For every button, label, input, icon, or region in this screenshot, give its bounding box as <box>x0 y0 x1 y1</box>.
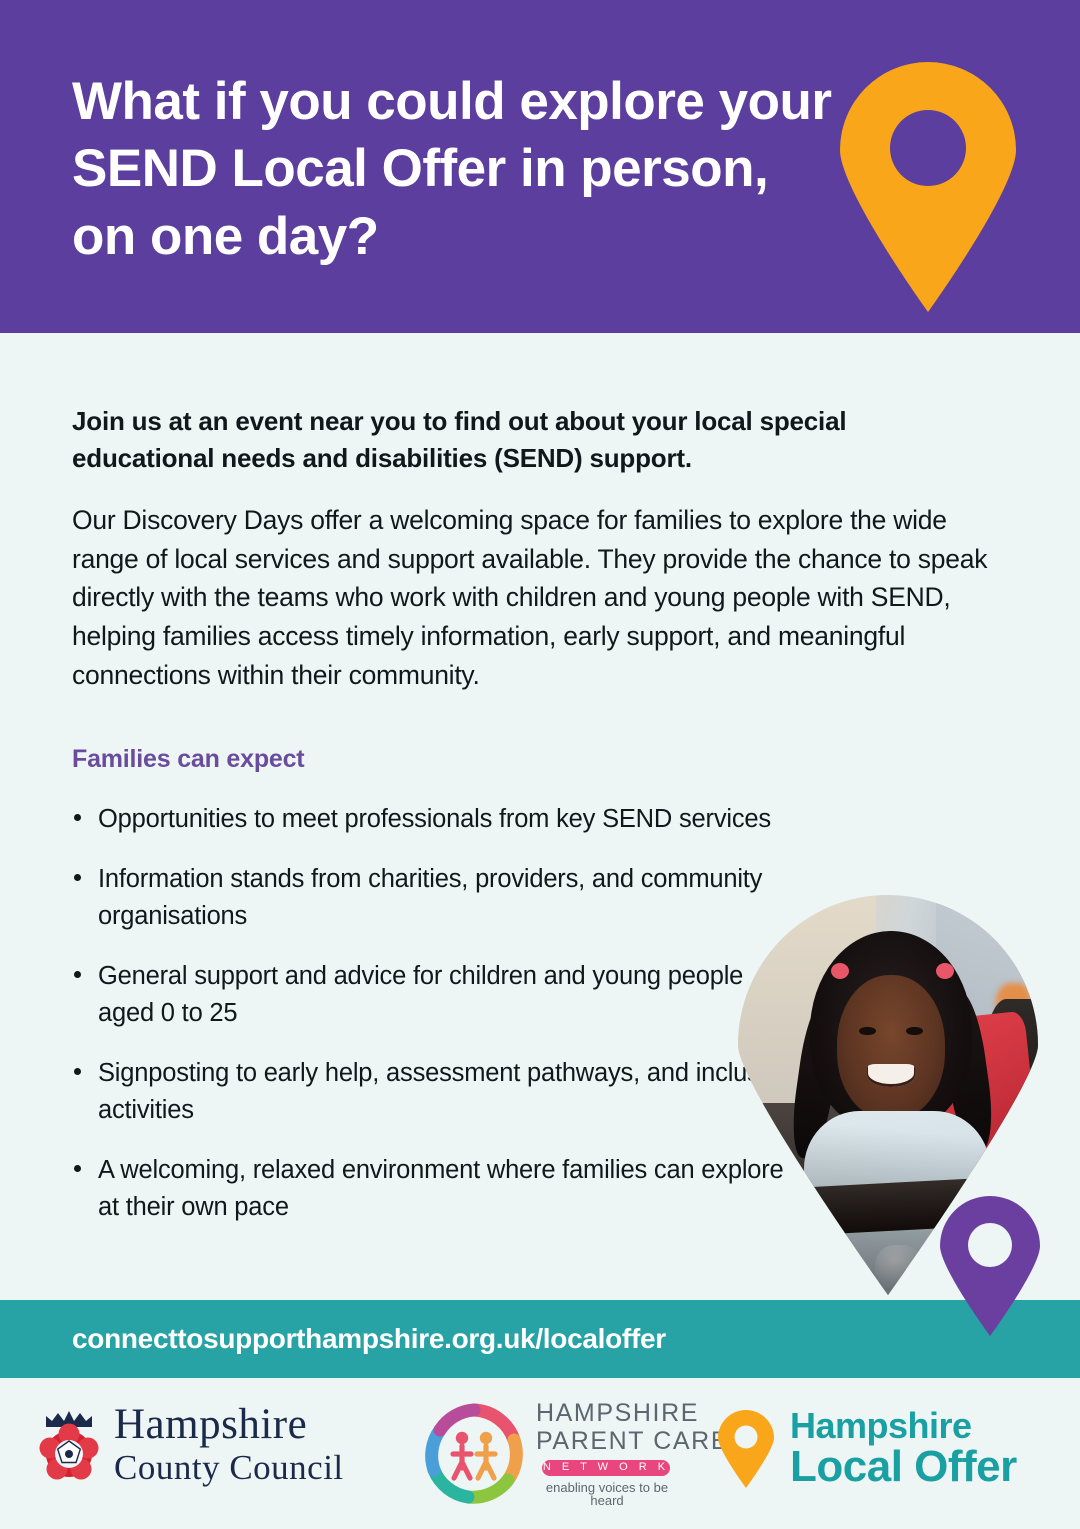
logo-line-1: Hampshire <box>114 1403 344 1446</box>
list-item-label: Signposting to early help, assessment pa… <box>98 1059 792 1123</box>
list-item-label: General support and advice for children … <box>98 962 743 1026</box>
logo-line-2: County Council <box>114 1450 344 1485</box>
page-title: What if you could explore your SEND Loca… <box>72 68 832 270</box>
map-pin-icon <box>840 62 1016 312</box>
list-item: Signposting to early help, assessment pa… <box>72 1055 792 1128</box>
list-item-label: Opportunities to meet professionals from… <box>98 805 771 833</box>
website-url[interactable]: connecttosupporthampshire.org.uk/localof… <box>72 1323 666 1355</box>
logo-text: Hampshire County Council <box>114 1403 344 1485</box>
list-item: Opportunities to meet professionals from… <box>72 801 792 837</box>
families-can-expect-heading: Families can expect <box>72 745 304 774</box>
bullet-dot-icon <box>74 814 81 821</box>
bullet-dot-icon <box>74 1165 81 1172</box>
logo-line-2: PARENT CARER <box>536 1429 749 1454</box>
list-item: General support and advice for children … <box>72 958 792 1031</box>
logo-network-badge: N E T W O R K <box>542 1460 670 1476</box>
footer-logos: Hampshire County Council <box>0 1378 1080 1529</box>
description-paragraph: Our Discovery Days offer a welcoming spa… <box>72 501 1002 694</box>
logo-line-1: Hampshire <box>790 1408 1017 1445</box>
logo-line-1: HAMPSHIRE <box>536 1401 749 1426</box>
logo-hampshire-local-offer: Hampshire Local Offer <box>718 1408 1017 1490</box>
logo-tagline: enabling voices to be heard <box>536 1481 678 1507</box>
bullet-dot-icon <box>74 1068 81 1075</box>
expectations-list: Opportunities to meet professionals from… <box>72 801 792 1249</box>
logo-text: Hampshire Local Offer <box>790 1408 1017 1490</box>
map-pin-icon <box>940 1196 1040 1336</box>
poster: What if you could explore your SEND Loca… <box>0 0 1080 1529</box>
lead-paragraph: Join us at an event near you to find out… <box>72 403 972 477</box>
header-banner: What if you could explore your SEND Loca… <box>0 0 1080 333</box>
tudor-rose-crown-icon <box>38 1405 100 1483</box>
bullet-dot-icon <box>74 874 81 881</box>
logo-line-2: Local Offer <box>790 1445 1017 1490</box>
logo-hampshire-county-council: Hampshire County Council <box>38 1403 344 1485</box>
map-pin-icon <box>718 1410 774 1488</box>
list-item-label: A welcoming, relaxed environment where f… <box>98 1156 784 1220</box>
list-item-label: Information stands from charities, provi… <box>98 865 762 929</box>
bullet-dot-icon <box>74 971 81 978</box>
logo-text: HAMPSHIRE PARENT CARER N E T W O R K ena… <box>536 1401 749 1507</box>
url-band: connecttosupporthampshire.org.uk/localof… <box>0 1300 1080 1378</box>
logo-hampshire-parent-carer-network: HAMPSHIRE PARENT CARER N E T W O R K ena… <box>420 1400 749 1508</box>
list-item: A welcoming, relaxed environment where f… <box>72 1152 792 1225</box>
circular-figures-icon <box>420 1400 528 1508</box>
list-item: Information stands from charities, provi… <box>72 861 792 934</box>
